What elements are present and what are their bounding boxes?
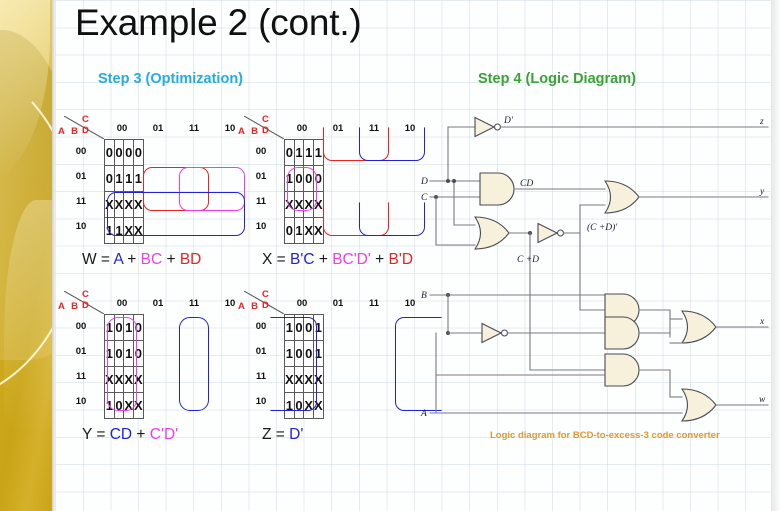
kmap-cell: 1 [105, 341, 115, 367]
kmap-row-header: 10 [244, 221, 278, 232]
kmap-row: 1000 [285, 166, 324, 192]
step4-heading: Step 4 (Logic Diagram) [478, 71, 636, 87]
kmap-cell: 1 [314, 315, 324, 341]
kmap-group-loop [143, 167, 209, 211]
kmap-row-var-label: A B [58, 301, 80, 312]
kmap-cell: X [314, 218, 324, 244]
kmap-row: 10XX [105, 393, 144, 419]
kmap-cell: 0 [304, 315, 314, 341]
kmap-cell: 0 [105, 166, 115, 192]
kmap-col-header: 11 [356, 298, 392, 309]
output-label-y: y [759, 187, 765, 197]
kmap-row: 1001 [285, 341, 324, 367]
kmap-cell: 1 [314, 341, 324, 367]
kmap-cell: 0 [314, 166, 324, 192]
kmap-cell: 1 [105, 393, 115, 419]
kmap-cell: 1 [314, 140, 324, 166]
kmap-cell: 0 [105, 140, 115, 166]
kmap-cell: 1 [105, 218, 115, 244]
kmap-row: 1010 [105, 341, 144, 367]
kmap-cell: 0 [304, 166, 314, 192]
kmap-grid: 10101010XXXX10XX [104, 314, 144, 419]
equation-plus: + [123, 251, 141, 268]
equation-plus: + [162, 251, 180, 268]
output-label-w: w [759, 395, 766, 405]
kmap-row: XXXX [285, 192, 324, 218]
kmap-col-var-label: C D [262, 114, 284, 136]
kmap-cell: 1 [294, 218, 304, 244]
signal-label-cd: CD [520, 179, 533, 189]
kmap-row-var-label: A B [238, 126, 260, 137]
kmap-col-header: 11 [176, 123, 212, 134]
equation-lhs: X = [262, 251, 290, 268]
kmap-row-header: 11 [64, 196, 98, 207]
equation-plus: + [371, 251, 389, 268]
kmap-col-header: 00 [284, 298, 320, 309]
kmap-col-var-label: C D [82, 289, 104, 311]
input-label-B: B [421, 291, 427, 301]
kmap-group-loop [359, 202, 425, 236]
kmap-cell: 0 [294, 166, 304, 192]
kmap-cell: 1 [105, 315, 115, 341]
kmap-cell: X [124, 192, 134, 218]
kmap-cell: 1 [285, 166, 295, 192]
output-label-z: z [759, 117, 764, 127]
kmap-row: 1001 [285, 315, 324, 341]
page-title: Example 2 (cont.) [75, 2, 362, 44]
kmap-row-header: 11 [244, 371, 278, 382]
kmap-cell: 0 [124, 140, 134, 166]
kmap-corner-header: A BC D [238, 115, 284, 139]
equation-term: BC'D' [332, 251, 371, 268]
kmap-equation-y: Y = CD + C'D' [82, 426, 178, 444]
kmap-group-loop [323, 202, 389, 236]
kmap-cell: 0 [134, 140, 144, 166]
equation-term: C'D' [150, 426, 178, 443]
kmap-row: XXXX [105, 367, 144, 393]
kmap-cell: X [304, 367, 314, 393]
kmap-row-header: 00 [244, 321, 278, 332]
output-label-x: x [759, 317, 765, 327]
sidebar-edge-shadow [52, 0, 55, 511]
kmap-row-header: 10 [64, 396, 98, 407]
equation-lhs: W = [82, 251, 113, 268]
kmap-cell: 1 [124, 315, 134, 341]
kmap-cell: X [134, 367, 144, 393]
kmap-cell: X [105, 192, 115, 218]
kmap-row: 0111 [285, 140, 324, 166]
kmap-equation-w: W = A + BC + BD [82, 251, 201, 269]
signal-label-cdnor: (C +D)′ [587, 222, 618, 233]
kmap-row-header: 00 [244, 146, 278, 157]
kmap-cell: 0 [114, 315, 124, 341]
logic-diagram-svg: D C B A D′ CD (C +D)′ C +D z y x w [420, 105, 770, 435]
kmap-cell: X [124, 393, 134, 419]
kmap-cell: X [124, 218, 134, 244]
equation-term: BC [141, 251, 163, 268]
decorative-gold-sidebar [0, 0, 52, 511]
kmap-cell: X [285, 192, 295, 218]
kmap-col-var-label: C D [262, 289, 284, 311]
equation-lhs: Z = [262, 426, 289, 443]
kmap-row: 01XX [285, 218, 324, 244]
kmap-cell: 1 [304, 140, 314, 166]
kmap-row-var-label: A B [58, 126, 80, 137]
signal-label-cord: C +D [517, 255, 539, 265]
input-label-A: A [420, 409, 427, 419]
kmap-cell: X [134, 192, 144, 218]
kmap-grid: 00000111XXXX11XX [104, 139, 144, 244]
kmap-cell: X [304, 192, 314, 218]
kmap-col-var-label: C D [82, 114, 104, 136]
equation-term: A [113, 251, 122, 268]
equation-term: CD [110, 426, 132, 443]
kmap-col-header: 11 [356, 123, 392, 134]
kmap-col-header: 01 [320, 298, 356, 309]
kmap-row-header: 10 [244, 396, 278, 407]
kmap-cell: 0 [304, 341, 314, 367]
kmap-cell: X [304, 218, 314, 244]
equation-term: B'D [389, 251, 414, 268]
kmap-row-header: 00 [64, 146, 98, 157]
kmap-cell: 0 [134, 341, 144, 367]
kmap-row-header: 01 [244, 171, 278, 182]
kmap-row: XXXX [105, 192, 144, 218]
kmap-row: 11XX [105, 218, 144, 244]
kmap-row-header: 00 [64, 321, 98, 332]
kmap-col-header: 01 [140, 123, 176, 134]
kmap-cell: 0 [285, 218, 295, 244]
kmap-cell: 1 [285, 393, 295, 419]
kmap-cell: 1 [285, 341, 295, 367]
kmap-cell: 0 [134, 315, 144, 341]
kmap-cell: 1 [114, 218, 124, 244]
kmap-cell: X [114, 192, 124, 218]
kmap-cell: 0 [294, 315, 304, 341]
input-label-D: D [420, 177, 428, 187]
kmap-cell: X [314, 393, 324, 419]
kmap-equation-z: Z = D' [262, 426, 303, 444]
kmap-row-header: 01 [64, 171, 98, 182]
kmap-col-header: 00 [104, 298, 140, 309]
kmap-cell: 0 [114, 341, 124, 367]
kmap-cell: X [314, 367, 324, 393]
kmap-col-header: 01 [140, 298, 176, 309]
kmap-cell: 0 [294, 341, 304, 367]
slide-canvas: Example 2 (cont.) Step 3 (Optimization) … [0, 0, 781, 511]
kmap-row: 10XX [285, 393, 324, 419]
kmap-cell: X [304, 393, 314, 419]
kmap-group-loop [179, 317, 209, 411]
kmap-cell: X [134, 218, 144, 244]
kmap-row: 0000 [105, 140, 144, 166]
kmap-row-header: 10 [64, 221, 98, 232]
kmap-cell: 0 [285, 140, 295, 166]
kmap-row: XXXX [285, 367, 324, 393]
equation-lhs: Y = [82, 426, 110, 443]
kmap-cell: 1 [294, 140, 304, 166]
kmap-col-header: 01 [320, 123, 356, 134]
step3-heading: Step 3 (Optimization) [98, 71, 243, 87]
kmap-row-header: 11 [64, 371, 98, 382]
kmap-col-header: 00 [104, 123, 140, 134]
kmap-cell: 0 [114, 393, 124, 419]
kmap-col-header: 00 [284, 123, 320, 134]
kmap-cell: 0 [294, 393, 304, 419]
kmap-cell: 0 [114, 140, 124, 166]
input-label-C: C [421, 193, 428, 203]
kmap-corner-header: A BC D [58, 290, 104, 314]
kmap-row-header: 01 [244, 346, 278, 357]
kmap-cell: X [294, 367, 304, 393]
kmap-group-loop [179, 167, 245, 211]
kmap-cell: 1 [134, 166, 144, 192]
kmap-corner-header: A BC D [238, 290, 284, 314]
equation-term: BD [180, 251, 202, 268]
kmap-cell: X [114, 367, 124, 393]
kmap-row: 1010 [105, 315, 144, 341]
kmap-row-header: 11 [244, 196, 278, 207]
equation-term: D' [289, 426, 303, 443]
kmap-grid: 01111000XXXX01XX [284, 139, 324, 244]
logic-diagram-caption: Logic diagram for BCD-to-excess-3 code c… [490, 430, 720, 441]
equation-plus: + [132, 426, 150, 443]
kmap-cell: X [105, 367, 115, 393]
kmap-grid: 10011001XXXX10XX [284, 314, 324, 419]
logic-diagram: D C B A D′ CD (C +D)′ C +D z y x w [420, 105, 770, 435]
kmap-cell: X [314, 192, 324, 218]
kmap-row: 0111 [105, 166, 144, 192]
kmap-cell: X [124, 367, 134, 393]
signal-label-dprime: D′ [503, 116, 514, 126]
kmap-equation-x: X = B'C + BC'D' + B'D [262, 251, 413, 269]
kmap-cell: X [294, 192, 304, 218]
right-edge-shadow [771, 0, 781, 511]
kmap-cell: 1 [124, 166, 134, 192]
kmap-corner-header: A BC D [58, 115, 104, 139]
equation-plus: + [315, 251, 333, 268]
kmap-cell: X [285, 367, 295, 393]
equation-term: B'C [290, 251, 315, 268]
kmap-row-header: 01 [64, 346, 98, 357]
kmap-cell: 1 [124, 341, 134, 367]
kmap-row-var-label: A B [238, 301, 260, 312]
kmap-col-header: 11 [176, 298, 212, 309]
kmap-cell: 1 [285, 315, 295, 341]
kmap-cell: X [134, 393, 144, 419]
kmap-cell: 1 [114, 166, 124, 192]
